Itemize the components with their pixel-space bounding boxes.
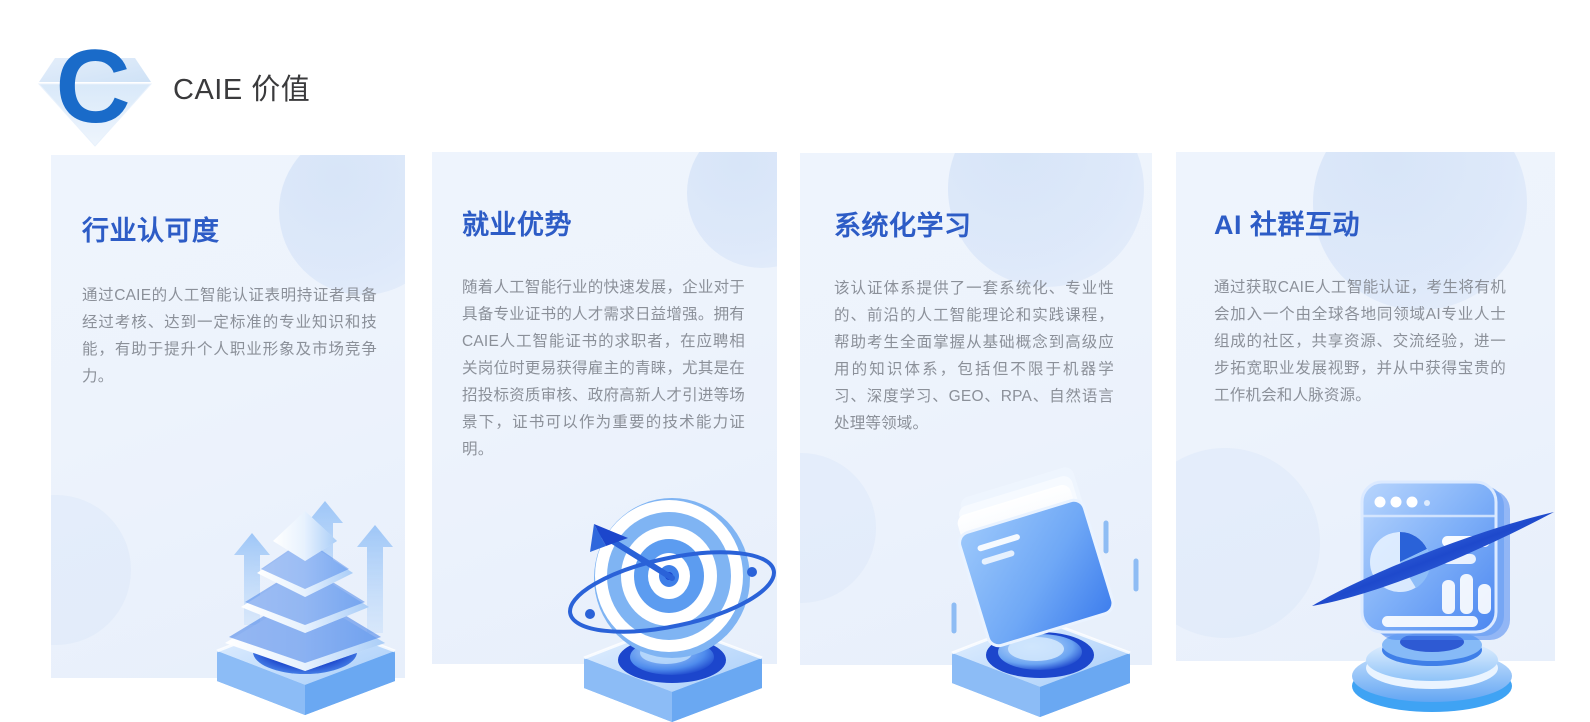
value-card[interactable]: 系统化学习 该认证体系提供了一套系统化、专业性的、前沿的人工智能理论和实践课程，… xyxy=(800,153,1152,665)
card-title: AI 社群互动 xyxy=(1214,209,1360,241)
card-description: 通过获取CAIE人工智能认证，考生将有机会加入一个由全球各地同领域AI专业人士组… xyxy=(1214,274,1506,409)
card-title: 行业认可度 xyxy=(82,215,220,247)
value-card[interactable]: 就业优势 随着人工智能行业的快速发展，企业对于具备专业证书的人才需求日益增强。拥… xyxy=(432,152,777,664)
card-content: 就业优势 随着人工智能行业的快速发展，企业对于具备专业证书的人才需求日益增强。拥… xyxy=(432,152,777,664)
card-description: 该认证体系提供了一套系统化、专业性的、前沿的人工智能理论和实践课程，帮助考生全面… xyxy=(834,275,1114,437)
card-content: 系统化学习 该认证体系提供了一套系统化、专业性的、前沿的人工智能理论和实践课程，… xyxy=(800,153,1152,665)
value-cards-list: 行业认可度 通过CAIE的人工智能认证表明持证者具备经过考核、达到一定标准的专业… xyxy=(0,0,1590,722)
card-content: AI 社群互动 通过获取CAIE人工智能认证，考生将有机会加入一个由全球各地同领… xyxy=(1176,152,1555,661)
value-card[interactable]: AI 社群互动 通过获取CAIE人工智能认证，考生将有机会加入一个由全球各地同领… xyxy=(1176,152,1555,661)
card-description: 通过CAIE的人工智能认证表明持证者具备经过考核、达到一定标准的专业知识和技能，… xyxy=(82,282,377,390)
card-description: 随着人工智能行业的快速发展，企业对于具备专业证书的人才需求日益增强。拥有CAIE… xyxy=(462,274,745,463)
card-title: 系统化学习 xyxy=(834,210,972,242)
value-card[interactable]: 行业认可度 通过CAIE的人工智能认证表明持证者具备经过考核、达到一定标准的专业… xyxy=(51,155,405,678)
caie-value-section: C CAIE 价值 行业认可度 通过CAIE的人工智能认证表明持证者具备经过考核… xyxy=(0,0,1590,722)
card-content: 行业认可度 通过CAIE的人工智能认证表明持证者具备经过考核、达到一定标准的专业… xyxy=(51,155,405,678)
card-title: 就业优势 xyxy=(462,209,572,241)
